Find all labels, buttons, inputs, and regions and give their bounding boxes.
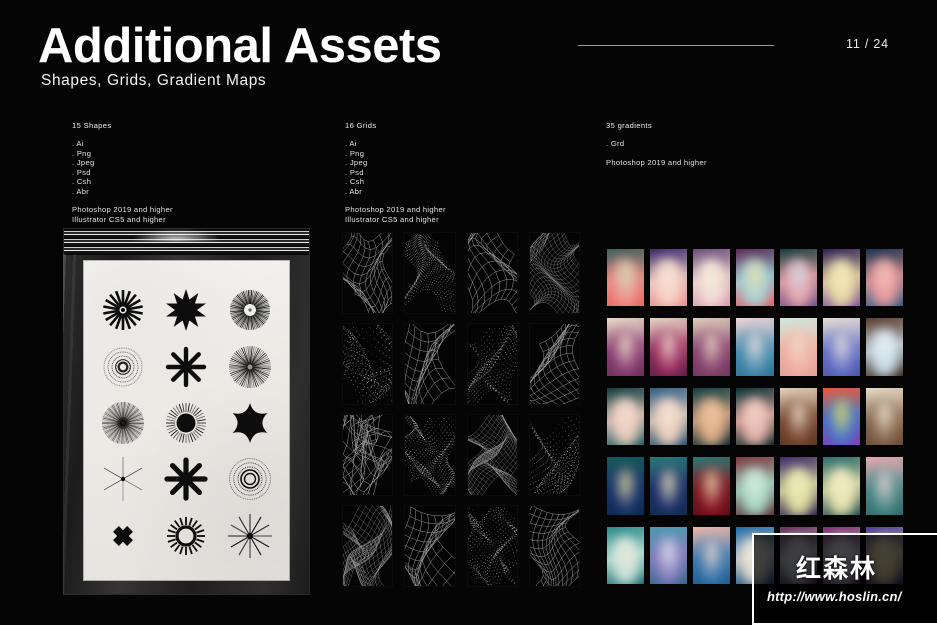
requirement-line: Photoshop 2019 and higher bbox=[345, 205, 446, 215]
shape-bold-asterisk bbox=[162, 455, 210, 503]
gradient-swatch-magenta-aqua-gold bbox=[736, 249, 773, 306]
grid-tile-twisted-dot-cushion bbox=[529, 414, 580, 496]
grid-tile-spiral-dot-whirl bbox=[467, 505, 518, 587]
gradient-blob bbox=[869, 259, 900, 306]
gradient-swatch-sand-cocoa bbox=[866, 388, 903, 445]
gradient-swatch-dark-teal-rose bbox=[736, 388, 773, 445]
format-list-grids: . Ai . Png . Jpeg . Psd . Csh . Abr bbox=[345, 139, 446, 196]
gradient-blob bbox=[739, 329, 770, 376]
format-item: . Ai bbox=[345, 139, 446, 149]
spec-block-grids: 16 Grids . Ai . Png . Jpeg . Psd . Csh .… bbox=[345, 121, 446, 224]
gradient-swatch-rainbow-spectral bbox=[823, 388, 860, 445]
shape-spiked-sun-solid-core bbox=[162, 286, 210, 334]
gradient-blob bbox=[653, 329, 684, 376]
slide-canvas: Additional Assets Shapes, Grids, Gradien… bbox=[0, 0, 937, 625]
gradient-swatch-indigo-peach bbox=[650, 249, 687, 306]
grid-tile-fold-crease-fine-grid bbox=[467, 414, 518, 496]
gradient-blob bbox=[610, 537, 641, 584]
shape-radial-burst-thick-rays bbox=[99, 286, 147, 334]
spec-title-shapes: 15 Shapes bbox=[72, 121, 173, 130]
header-divider-rule bbox=[578, 45, 774, 46]
grid-tile-warped-mesh-pinch-left bbox=[342, 232, 393, 314]
shape-six-point-concave-star bbox=[226, 399, 274, 447]
gradient-swatch-navy-salmon bbox=[866, 249, 903, 306]
gradient-swatch-crimson-teal bbox=[693, 457, 730, 514]
gradient-blob bbox=[696, 537, 727, 584]
gradient-blob bbox=[826, 468, 857, 515]
gradient-swatch-steel-peach bbox=[650, 388, 687, 445]
grids-preview-panel bbox=[342, 232, 580, 587]
shape-double-ring-dot-halo bbox=[226, 455, 274, 503]
format-item: . Csh bbox=[345, 177, 446, 187]
shape-ring-with-spokes bbox=[162, 512, 210, 560]
gradient-blob bbox=[826, 398, 857, 445]
gradient-blob bbox=[653, 468, 684, 515]
gradient-blob bbox=[653, 398, 684, 445]
spec-title-grids: 16 Grids bbox=[345, 121, 446, 130]
gradient-blob bbox=[610, 329, 641, 376]
shapes-card bbox=[83, 260, 290, 581]
gradient-blob bbox=[869, 329, 900, 376]
shape-soft-gradient-radial-blur bbox=[99, 399, 147, 447]
gradient-swatch-teal-peach-night bbox=[607, 388, 644, 445]
gradient-blob bbox=[696, 329, 727, 376]
gradient-blob bbox=[739, 468, 770, 515]
page-title: Additional Assets bbox=[38, 22, 442, 71]
seal-highlight bbox=[132, 229, 221, 241]
shape-dense-needle-starburst bbox=[226, 343, 274, 391]
grid-tile-bulging-dot-sphere bbox=[404, 414, 455, 496]
gradient-blob bbox=[739, 398, 770, 445]
gradient-blob bbox=[783, 468, 814, 515]
page-subtitle: Shapes, Grids, Gradient Maps bbox=[41, 72, 266, 90]
requirement-line: Photoshop 2019 and higher bbox=[606, 158, 707, 168]
gradient-swatch-crimson-orchid bbox=[650, 318, 687, 375]
gradient-swatch-deep-teal-rose bbox=[780, 249, 817, 306]
gradient-blob bbox=[826, 329, 857, 376]
requirement-line: Illustrator CS5 and higher bbox=[345, 215, 446, 225]
gradient-blob bbox=[739, 259, 770, 306]
gradient-swatch-tan-umber bbox=[780, 388, 817, 445]
format-item: . Png bbox=[345, 149, 446, 159]
grid-tile-knotted-dot-cluster bbox=[467, 323, 518, 405]
grid-tile-ripple-lattice-fine bbox=[529, 232, 580, 314]
shape-fine-radial-sunburst bbox=[226, 286, 274, 334]
gradient-swatch-seafoam-gold bbox=[823, 457, 860, 514]
gradient-swatch-mint-maroon bbox=[736, 457, 773, 514]
gradient-swatch-teal-amber-dark bbox=[693, 388, 730, 445]
format-item: . Jpeg bbox=[345, 158, 446, 168]
grid-tile-twisted-ribbon-wireframe bbox=[467, 232, 518, 314]
shape-thick-x-cross bbox=[99, 512, 147, 560]
gradient-blob bbox=[610, 398, 641, 445]
format-item: . Abr bbox=[345, 187, 446, 197]
gradient-swatch-teal-navy-gold bbox=[607, 457, 644, 514]
gradient-blob bbox=[783, 329, 814, 376]
format-item: . Csh bbox=[72, 177, 173, 187]
watermark-brand: 红森林 bbox=[796, 549, 877, 585]
gradient-swatch-yellow-orchid-navy bbox=[823, 249, 860, 306]
gradient-swatch-violet-cream bbox=[693, 249, 730, 306]
gradient-blob bbox=[653, 537, 684, 584]
gradient-swatch-cyan-violet-soft bbox=[650, 527, 687, 584]
shape-thin-six-ray-cross bbox=[99, 455, 147, 503]
format-item: . Psd bbox=[72, 168, 173, 178]
gradient-blob bbox=[653, 259, 684, 306]
gradient-swatch-teal-coral-mint bbox=[607, 249, 644, 306]
gradient-swatch-teal-sky-cream bbox=[607, 527, 644, 584]
shapes-grid bbox=[91, 282, 282, 564]
gradient-swatch-coral-azure bbox=[693, 527, 730, 584]
spec-block-shapes: 15 Shapes . Ai . Png . Jpeg . Psd . Csh … bbox=[72, 121, 173, 224]
gradient-blob bbox=[869, 468, 900, 515]
grid-tile-s-curve-warp-mesh bbox=[404, 323, 455, 405]
gradient-blob bbox=[610, 259, 641, 306]
requirement-line: Photoshop 2019 and higher bbox=[72, 205, 173, 215]
gradient-swatch-mauve-sand bbox=[693, 318, 730, 375]
shape-solid-circle-with-corona bbox=[162, 399, 210, 447]
gradient-swatch-mint-blush bbox=[780, 318, 817, 375]
format-list-gradients: . Grd bbox=[606, 139, 707, 149]
shapes-preview-bag bbox=[63, 228, 310, 595]
gradient-blob bbox=[696, 398, 727, 445]
gradient-blob bbox=[783, 398, 814, 445]
gradient-swatch-periwinkle-cream bbox=[823, 318, 860, 375]
gradient-blob bbox=[826, 259, 857, 306]
grid-tile-swirl-wireframe-soft bbox=[529, 323, 580, 405]
format-item: . Png bbox=[72, 149, 173, 159]
format-item: . Ai bbox=[72, 139, 173, 149]
gradient-blob bbox=[696, 259, 727, 306]
page-indicator: 11 / 24 bbox=[846, 37, 889, 51]
shape-dotted-concentric-halo bbox=[99, 343, 147, 391]
spec-title-gradients: 35 gradients bbox=[606, 121, 707, 130]
gradient-swatch-aqua-cream-indigo bbox=[650, 457, 687, 514]
format-item: . Jpeg bbox=[72, 158, 173, 168]
gradient-blob bbox=[610, 468, 641, 515]
gradient-swatch-pink-teal-split bbox=[866, 457, 903, 514]
gradient-blob bbox=[783, 259, 814, 306]
shape-twelve-ray-star-dot bbox=[226, 512, 274, 560]
gradient-swatch-brown-sky bbox=[866, 318, 903, 375]
gradient-blob bbox=[869, 398, 900, 445]
grid-tile-loose-curve-net bbox=[404, 505, 455, 587]
grid-tile-vertical-wave-grid bbox=[342, 414, 393, 496]
gradient-swatch-blush-steel-blue bbox=[736, 318, 773, 375]
grid-tile-dotted-vortex-tunnel bbox=[404, 232, 455, 314]
gradient-swatch-violet-lemon bbox=[780, 457, 817, 514]
gradient-blob bbox=[696, 468, 727, 515]
shape-eight-petal-asterisk bbox=[162, 343, 210, 391]
watermark-overlay: 红森林 http://www.hoslin.cn/ bbox=[752, 533, 937, 625]
format-item: . Grd bbox=[606, 139, 707, 149]
format-list-shapes: . Ai . Png . Jpeg . Psd . Csh . Abr bbox=[72, 139, 173, 196]
grid-tile-flowing-wire-drape bbox=[529, 505, 580, 587]
gradient-swatch-cream-plum bbox=[607, 318, 644, 375]
format-item: . Psd bbox=[345, 168, 446, 178]
grid-tile-wave-dot-flow-band bbox=[342, 323, 393, 405]
spec-block-gradients: 35 gradients . Grd Photoshop 2019 and hi… bbox=[606, 121, 707, 167]
grid-tile-micro-mesh-distort bbox=[342, 505, 393, 587]
requirement-line: Illustrator CS5 and higher bbox=[72, 215, 173, 225]
format-item: . Abr bbox=[72, 187, 173, 197]
watermark-url: http://www.hoslin.cn/ bbox=[767, 589, 901, 604]
